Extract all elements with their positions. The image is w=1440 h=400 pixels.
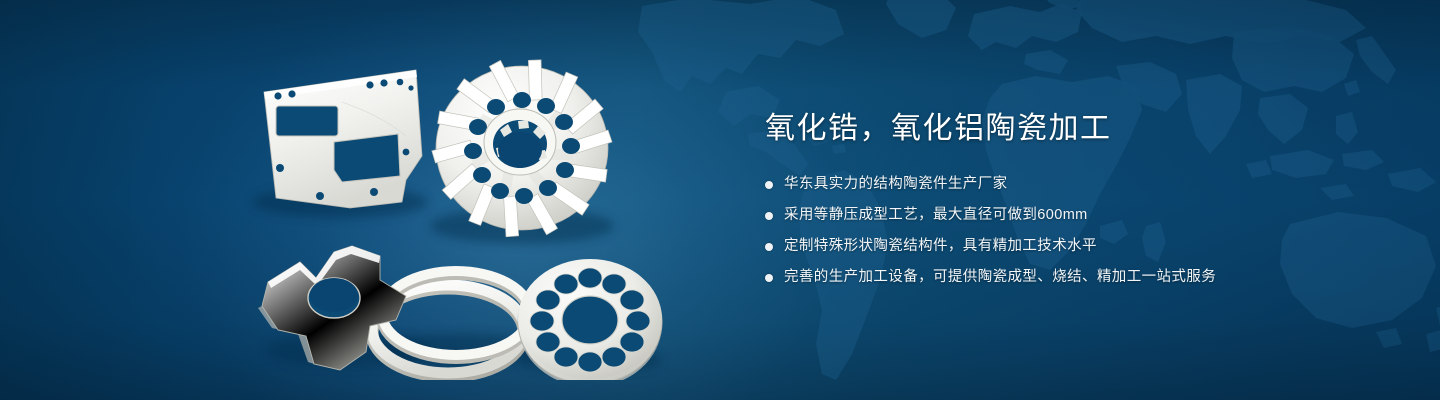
page-title: 氧化锆，氧化铝陶瓷加工	[765, 110, 1385, 148]
hero-banner: 氧化锆，氧化铝陶瓷加工 华东具实力的结构陶瓷件生产厂家 采用等静压成型工艺，最大…	[0, 0, 1440, 400]
feature-text: 采用等静压成型工艺，最大直径可做到600mm	[784, 205, 1088, 227]
ceramic-perforated-disc	[518, 259, 662, 380]
feature-text: 完善的生产加工设备，可提供陶瓷成型、烧结、精加工一站式服务	[784, 267, 1216, 289]
bullet-dot-icon	[765, 243, 773, 251]
product-photo-group	[230, 30, 710, 380]
banner-copy: 氧化锆，氧化铝陶瓷加工 华东具实力的结构陶瓷件生产厂家 采用等静压成型工艺，最大…	[765, 110, 1385, 288]
list-item: 采用等静压成型工艺，最大直径可做到600mm	[765, 205, 1385, 227]
bullet-dot-icon	[765, 274, 773, 282]
feature-list: 华东具实力的结构陶瓷件生产厂家 采用等静压成型工艺，最大直径可做到600mm 定…	[765, 174, 1385, 288]
ceramic-ring	[372, 271, 530, 376]
feature-text: 华东具实力的结构陶瓷件生产厂家	[784, 174, 1008, 196]
list-item: 定制特殊形状陶瓷结构件，具有精加工技术水平	[765, 236, 1385, 258]
list-item: 完善的生产加工设备，可提供陶瓷成型、烧结、精加工一站式服务	[765, 267, 1385, 289]
feature-text: 定制特殊形状陶瓷结构件，具有精加工技术水平	[784, 236, 1097, 258]
list-item: 华东具实力的结构陶瓷件生产厂家	[765, 174, 1385, 196]
bullet-dot-icon	[765, 212, 773, 220]
ceramic-vaned-impeller	[431, 57, 612, 240]
ceramic-machined-plate	[264, 70, 422, 208]
bullet-dot-icon	[765, 181, 773, 189]
